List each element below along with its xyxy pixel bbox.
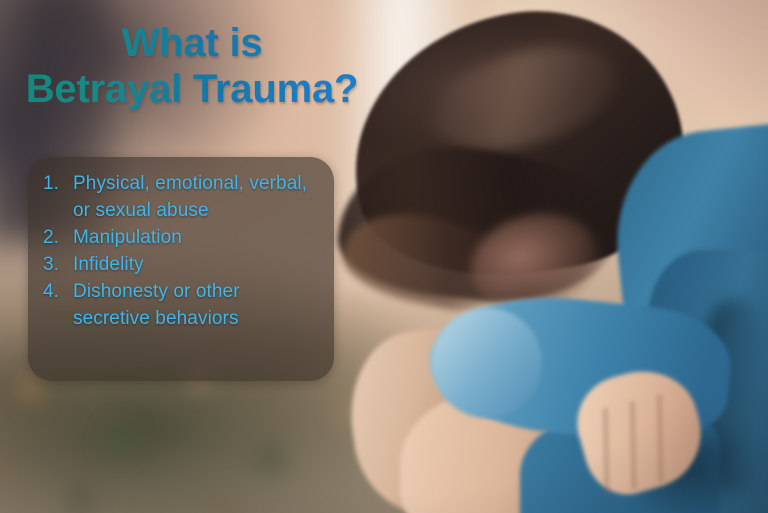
list-item-label: Infidelity (73, 252, 320, 279)
betrayal-trauma-list: 1. Physical, emotional, verbal, or sexua… (40, 171, 320, 333)
poster-canvas: What is Betrayal Trauma? 1. Physical, em… (0, 0, 768, 513)
definition-list-panel: 1. Physical, emotional, verbal, or sexua… (28, 157, 334, 381)
page-title: What is Betrayal Trauma? (0, 22, 384, 110)
list-item-number: 2. (40, 225, 73, 252)
title-line-1: What is (0, 22, 384, 64)
list-item: 4. Dishonesty or other secretive behavio… (40, 279, 320, 333)
list-item-label: Dishonesty or other secretive behaviors (73, 279, 320, 333)
list-item-number: 4. (40, 279, 73, 306)
list-item: 2. Manipulation (40, 225, 320, 252)
title-line-2: Betrayal Trauma? (0, 68, 384, 110)
list-item-number: 1. (40, 171, 73, 198)
list-item: 3. Infidelity (40, 252, 320, 279)
list-item: 1. Physical, emotional, verbal, or sexua… (40, 171, 320, 225)
list-item-number: 3. (40, 252, 73, 279)
list-item-label: Manipulation (73, 225, 320, 252)
list-item-label: Physical, emotional, verbal, or sexual a… (73, 171, 320, 225)
